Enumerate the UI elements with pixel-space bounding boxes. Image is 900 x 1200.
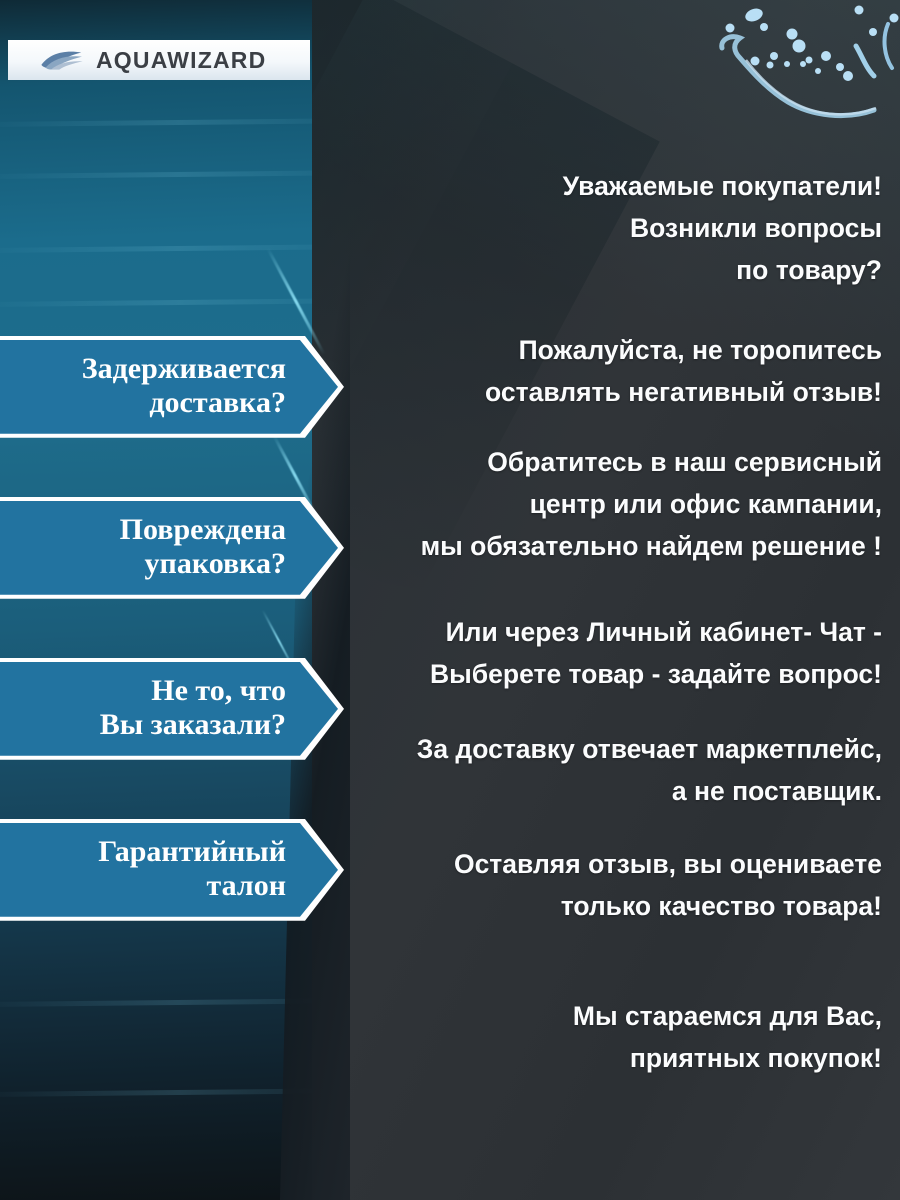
banner-label: Гарантийный талон — [0, 823, 338, 917]
wave-icon — [40, 49, 84, 71]
message-greeting: Уважаемые покупатели! Возникли вопросы п… — [334, 165, 882, 291]
message-via-chat: Или через Личный кабинет- Чат - Выберете… — [334, 611, 882, 695]
left-panel — [0, 0, 312, 1200]
logo-bar: AQUAWIZARD — [8, 40, 310, 80]
banner-label: Повреждена упаковка? — [0, 501, 338, 595]
poster-canvas: AQUAWIZARD Задерживается доставка? Повре… — [0, 0, 900, 1200]
logo-text: AQUAWIZARD — [96, 47, 266, 74]
banner-wrong-item[interactable]: Не то, что Вы заказали? — [0, 658, 344, 760]
message-marketplace: За доставку отвечает маркетплейс, а не п… — [334, 728, 882, 812]
message-no-rush: Пожалуйста, не торопитесь оставлять нега… — [334, 329, 882, 413]
banner-label: Задерживается доставка? — [0, 340, 338, 434]
message-contact-us: Обратитесь в наш сервисный центр или офи… — [334, 441, 882, 567]
banner-label: Не то, что Вы заказали? — [0, 662, 338, 756]
message-review-scope: Оставляя отзыв, вы оцениваете только кач… — [334, 843, 882, 927]
message-closing: Мы стараемся для Вас, приятных покупок! — [334, 995, 882, 1079]
banner-warranty-card[interactable]: Гарантийный талон — [0, 819, 344, 921]
message-column: Уважаемые покупатели! Возникли вопросы п… — [330, 0, 900, 1200]
banner-packaging-damaged[interactable]: Повреждена упаковка? — [0, 497, 344, 599]
banner-delivery-delayed[interactable]: Задерживается доставка? — [0, 336, 344, 438]
